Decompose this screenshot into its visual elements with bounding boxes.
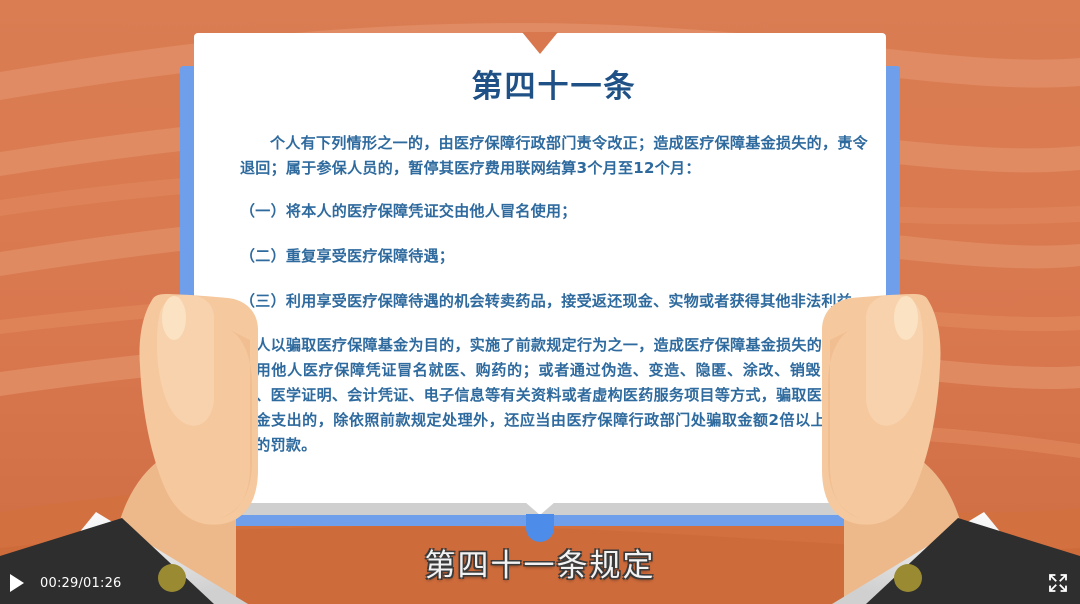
fullscreen-button[interactable] <box>1048 573 1068 593</box>
bookmark-tab <box>526 514 554 542</box>
book-page-spread: 第四十一条 个人有下列情形之一的，由医疗保障行政部门责令改正；造成医疗保障基金损… <box>194 33 886 505</box>
clause-item-1: （一）将本人的医疗保障凭证交由他人冒名使用； <box>240 199 868 224</box>
book-cover-right-edge <box>884 66 900 516</box>
clause-item-2: （二）重复享受医疗保障待遇； <box>240 244 868 269</box>
clause-item-3: （三）利用享受医疗保障待遇的机会转卖药品，接受返还现金、实物或者获得其他非法利益… <box>240 289 868 314</box>
open-book: 第四十一条 个人有下列情形之一的，由医疗保障行政部门责令改正；造成医疗保障基金损… <box>180 33 900 525</box>
time-display: 00:29/01:26 <box>40 576 122 591</box>
paragraph-intro: 个人有下列情形之一的，由医疗保障行政部门责令改正；造成医疗保障基金损失的，责令退… <box>240 131 868 181</box>
play-button[interactable] <box>10 574 24 592</box>
video-player-stage: 第四十一条 个人有下列情形之一的，由医疗保障行政部门责令改正；造成医疗保障基金损… <box>0 0 1080 604</box>
document-content: 第四十一条 个人有下列情形之一的，由医疗保障行政部门责令改正；造成医疗保障基金损… <box>240 61 868 481</box>
fullscreen-expand-icon <box>1048 573 1068 593</box>
video-player-controls: 00:29/01:26 <box>0 560 1080 604</box>
paragraph-penalty: 个人以骗取医疗保障基金为目的，实施了前款规定行为之一，造成医疗保障基金损失的；或… <box>240 333 868 457</box>
page-title: 第四十一条 <box>240 61 868 106</box>
book-center-fold-notch <box>522 32 558 54</box>
